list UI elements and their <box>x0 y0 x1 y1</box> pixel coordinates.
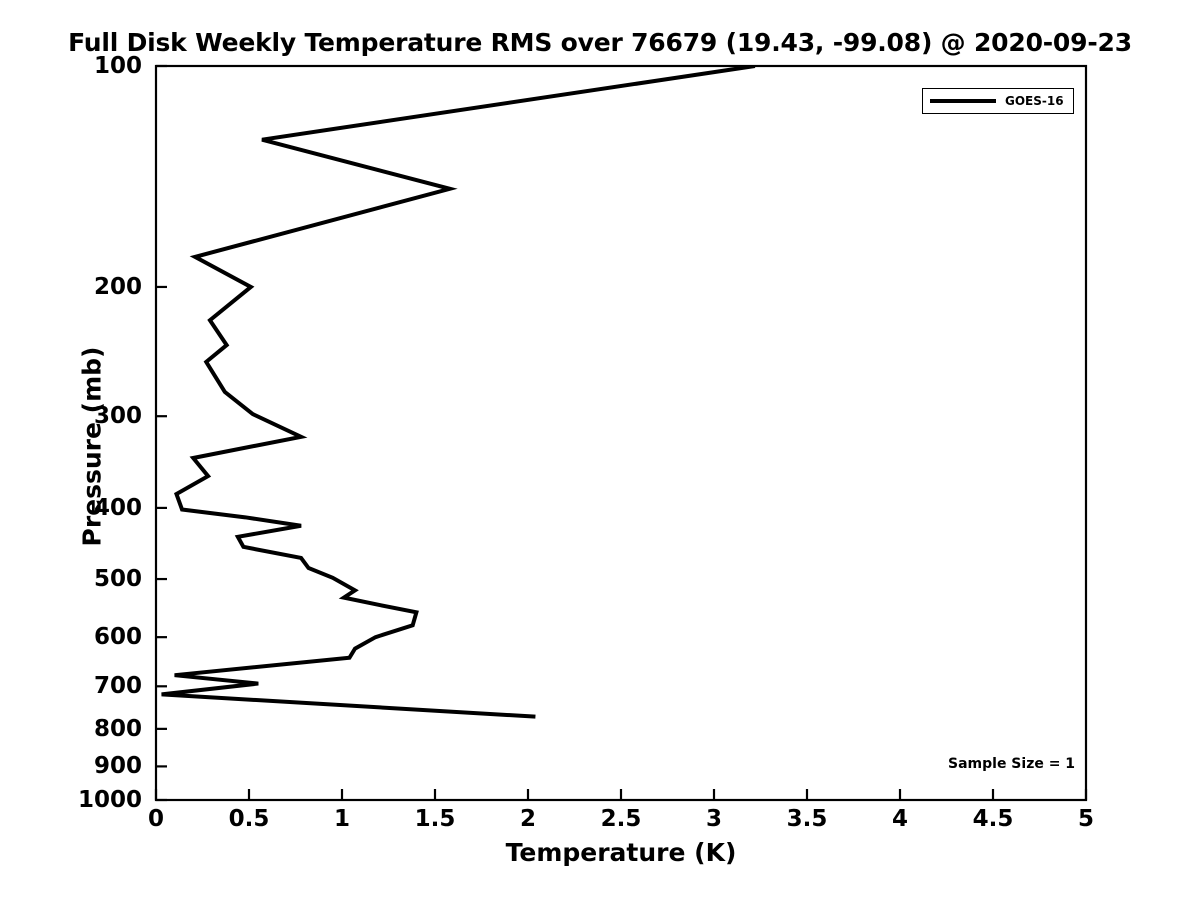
series-line-goes-16 <box>162 66 755 717</box>
y-tick-label-700: 700 <box>20 673 142 699</box>
series-lines <box>162 66 755 717</box>
x-tick-label-1: 1 <box>334 806 350 832</box>
x-tick-label-2.5: 2.5 <box>601 806 642 832</box>
data-series-canvas <box>156 66 1086 800</box>
x-tick-label-2: 2 <box>520 806 536 832</box>
x-tick-label-3.5: 3.5 <box>787 806 828 832</box>
x-axis-label: Temperature (K) <box>156 838 1086 867</box>
page-title: Full Disk Weekly Temperature RMS over 76… <box>0 28 1200 57</box>
chart-figure: Full Disk Weekly Temperature RMS over 76… <box>0 0 1200 900</box>
sample-size-annotation: Sample Size = 1 <box>948 756 1075 772</box>
y-tick-label-1000: 1000 <box>20 787 142 813</box>
x-tick-label-5: 5 <box>1078 806 1094 832</box>
y-tick-label-800: 800 <box>20 716 142 742</box>
legend-swatch-goes-16 <box>930 99 996 103</box>
y-tick-label-900: 900 <box>20 753 142 779</box>
x-tick-label-3: 3 <box>706 806 722 832</box>
y-tick-label-100: 100 <box>20 53 142 79</box>
x-tick-label-1.5: 1.5 <box>415 806 456 832</box>
legend: GOES-16 <box>922 88 1074 114</box>
legend-label-goes-16: GOES-16 <box>1005 94 1064 108</box>
y-axis-label: Pressure (mb) <box>78 297 107 597</box>
plot-area <box>156 66 1086 800</box>
x-tick-label-4: 4 <box>892 806 908 832</box>
x-tick-label-0: 0 <box>148 806 164 832</box>
x-tick-label-0.5: 0.5 <box>229 806 270 832</box>
x-tick-label-4.5: 4.5 <box>973 806 1014 832</box>
y-tick-label-600: 600 <box>20 624 142 650</box>
